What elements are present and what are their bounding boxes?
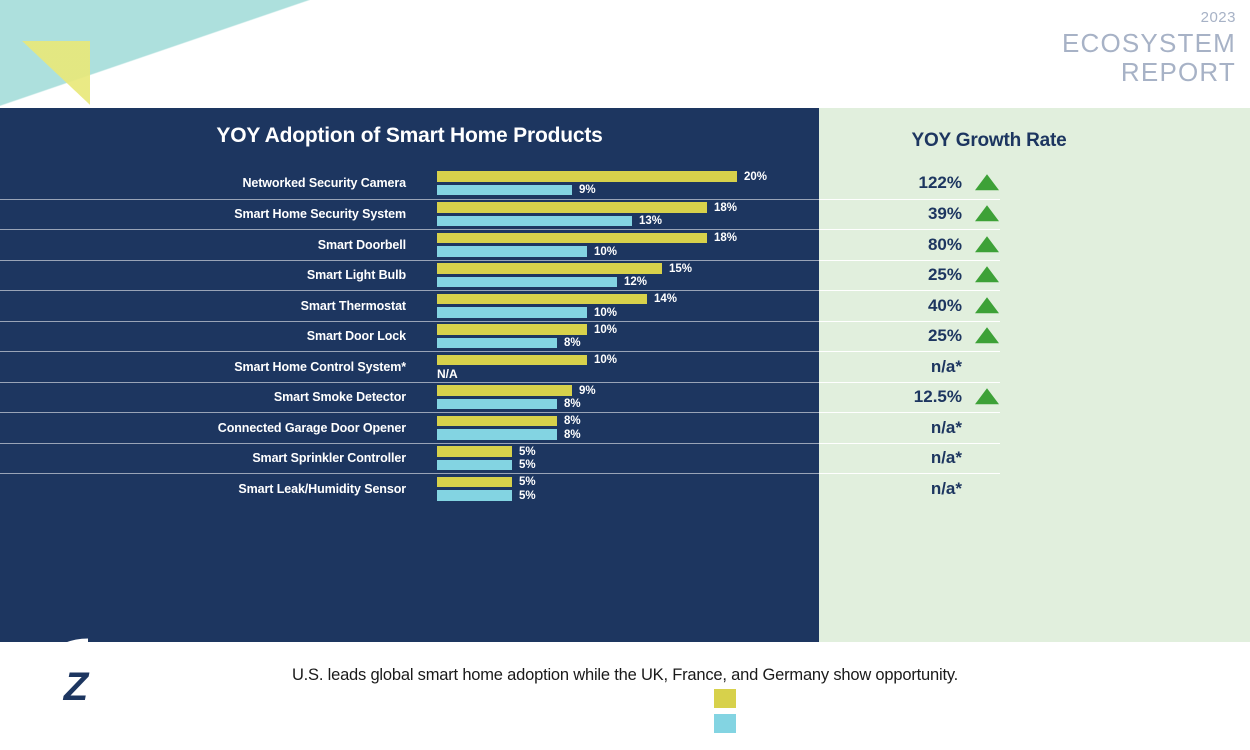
bar-segment — [437, 171, 737, 182]
bar-segment — [437, 216, 632, 227]
growth-rate-value: 40% — [819, 296, 962, 316]
bar-group: 10%8% — [437, 324, 819, 348]
bar-group: 20%9% — [437, 171, 819, 195]
bar-value-label: 14% — [654, 293, 677, 305]
report-year: 2023 — [1062, 10, 1236, 30]
bar-value-label: 5% — [519, 489, 536, 501]
row-divider-mask — [1000, 290, 1250, 291]
bar-line: 15% — [437, 263, 819, 274]
bar-segment — [437, 233, 707, 244]
bar-line: 14% — [437, 294, 819, 305]
bar-line: 5% — [437, 477, 819, 488]
growth-up-arrow-icon — [975, 174, 999, 190]
report-title-block: 2023 ECOSYSTEM REPORT — [1062, 10, 1236, 88]
bar-segment — [437, 355, 587, 366]
bar-group: 9%8% — [437, 385, 819, 409]
bar-chart-row: Smart Home Security System18%13% — [0, 199, 819, 230]
growth-rate-row: 25% — [819, 321, 1250, 352]
bar-chart-row: Connected Garage Door Opener8%8% — [0, 412, 819, 443]
bar-chart-row: Smart Home Control System*10%N/A — [0, 351, 819, 382]
row-divider-mask — [1000, 443, 1250, 444]
adoption-chart-panel: YOY Adoption of Smart Home Products Netw… — [0, 108, 819, 642]
bar-segment — [437, 246, 587, 257]
growth-up-arrow-icon — [975, 297, 999, 313]
bar-value-label: 9% — [579, 184, 596, 196]
bar-line: 20% — [437, 171, 819, 182]
bar-line: 8% — [437, 338, 819, 349]
bar-line: 10% — [437, 307, 819, 318]
bar-value-label: 8% — [564, 428, 581, 440]
bar-line: 8% — [437, 399, 819, 410]
legend-label-q2: Q2 20 — [750, 716, 787, 731]
bar-group: 18%13% — [437, 202, 819, 226]
bar-category-label: Smart Thermostat — [0, 299, 418, 313]
bar-group: 18%10% — [437, 233, 819, 257]
bar-segment — [437, 446, 512, 457]
page-caption: U.S. leads global smart home adoption wh… — [0, 666, 1250, 685]
bar-value-label: 9% — [579, 384, 596, 396]
bar-value-label: 10% — [594, 354, 617, 366]
bar-category-label: Smart Smoke Detector — [0, 390, 418, 404]
bar-line: 18% — [437, 233, 819, 244]
bar-line: 9% — [437, 185, 819, 196]
bar-segment — [437, 324, 587, 335]
bar-value-label: 15% — [669, 262, 692, 274]
growth-rate-rows: 122%39%80%25%40%25%n/a*12.5%n/a*n/a*n/a* — [819, 168, 1250, 504]
growth-rate-value: 39% — [819, 204, 962, 224]
page-header: 2023 ECOSYSTEM REPORT — [0, 0, 1250, 108]
bar-line: 5% — [437, 490, 819, 501]
row-divider-mask — [1000, 382, 1250, 383]
bar-na-label: N/A — [437, 367, 458, 381]
bar-segment — [437, 294, 647, 305]
growth-up-arrow-icon — [975, 327, 999, 343]
bar-category-label: Smart Home Control System* — [0, 360, 418, 374]
bar-line: 10% — [437, 324, 819, 335]
growth-rate-row: n/a* — [819, 473, 1250, 504]
growth-rate-value: 12.5% — [819, 387, 962, 407]
bar-value-label: 5% — [519, 459, 536, 471]
growth-rate-row: n/a* — [819, 351, 1250, 382]
bar-line: 18% — [437, 202, 819, 213]
bar-line: 5% — [437, 446, 819, 457]
growth-rate-value: 122% — [819, 173, 962, 193]
bar-group: 5%5% — [437, 477, 819, 501]
bar-value-label: 13% — [639, 215, 662, 227]
bar-value-label: 18% — [714, 201, 737, 213]
bar-value-label: 5% — [519, 476, 536, 488]
growth-rate-row: 25% — [819, 260, 1250, 291]
bar-value-label: 8% — [564, 337, 581, 349]
legend-label-q1: Q1 22 — [750, 691, 787, 706]
bar-segment — [437, 307, 587, 318]
bar-line: 8% — [437, 429, 819, 440]
bar-line: 8% — [437, 416, 819, 427]
bar-segment — [437, 202, 707, 213]
growth-up-arrow-icon — [975, 236, 999, 252]
bar-chart-row: Networked Security Camera20%9% — [0, 168, 819, 199]
growth-rate-value: n/a* — [819, 448, 962, 468]
bar-segment — [437, 185, 572, 196]
legend-item-q2: Q2 20 — [714, 711, 787, 736]
bar-chart-row: Smart Doorbell18%10% — [0, 229, 819, 260]
growth-rate-value: n/a* — [819, 357, 962, 377]
bar-category-label: Connected Garage Door Opener — [0, 421, 418, 435]
growth-rate-row: 39% — [819, 199, 1250, 230]
growth-rate-row: n/a* — [819, 443, 1250, 474]
zwave-sub-text: ALLIANCE — [83, 705, 192, 727]
row-divider-mask — [1000, 229, 1250, 230]
bar-segment — [437, 477, 512, 488]
growth-rate-title: YOY Growth Rate — [819, 130, 1159, 152]
bar-segment — [437, 399, 557, 410]
growth-rate-value: 25% — [819, 265, 962, 285]
legend-swatch-q1 — [714, 689, 736, 708]
bar-value-label: 18% — [714, 232, 737, 244]
bar-segment — [437, 277, 617, 288]
bar-line: 5% — [437, 460, 819, 471]
bar-group: 10%N/A — [437, 355, 819, 379]
bar-line: 9% — [437, 385, 819, 396]
bar-category-label: Smart Doorbell — [0, 238, 418, 252]
bar-category-label: Smart Leak/Humidity Sensor — [0, 482, 418, 496]
growth-rate-row: 40% — [819, 290, 1250, 321]
bar-segment — [437, 338, 557, 349]
bar-group: 15%12% — [437, 263, 819, 287]
bar-category-label: Smart Door Lock — [0, 329, 418, 343]
bar-segment — [437, 429, 557, 440]
bar-line: 12% — [437, 277, 819, 288]
growth-rate-row: n/a* — [819, 412, 1250, 443]
row-divider-mask — [1000, 321, 1250, 322]
bar-value-label: 8% — [564, 415, 581, 427]
bar-value-label: 12% — [624, 276, 647, 288]
bar-category-label: Smart Home Security System — [0, 207, 418, 221]
bar-line: 10% — [437, 355, 819, 366]
bar-group: 14%10% — [437, 294, 819, 318]
row-divider-mask — [1000, 473, 1250, 474]
row-divider-mask — [1000, 260, 1250, 261]
growth-rate-row: 80% — [819, 229, 1250, 260]
growth-up-arrow-icon — [975, 388, 999, 404]
bar-chart-rows: Networked Security Camera20%9%Smart Home… — [0, 168, 819, 504]
bar-value-label: 10% — [594, 323, 617, 335]
bar-value-label: 10% — [594, 245, 617, 257]
bar-chart-row: Smart Door Lock10%8% — [0, 321, 819, 352]
report-page: 2023 ECOSYSTEM REPORT YOY Adoption of Sm… — [0, 0, 1250, 750]
bar-chart-row: Smart Thermostat14%10% — [0, 290, 819, 321]
bar-category-label: Smart Sprinkler Controller — [0, 451, 418, 465]
bar-group: 8%8% — [437, 416, 819, 440]
yellow-triangle-decoration — [22, 41, 90, 105]
footnote-text: * n/a means data was not collected for t… — [278, 646, 646, 660]
bar-value-label: 8% — [564, 398, 581, 410]
bar-group: 5%5% — [437, 446, 819, 470]
row-divider-mask — [1000, 199, 1250, 200]
bar-value-label: 10% — [594, 306, 617, 318]
report-title-line1: ECOSYSTEM — [1062, 30, 1236, 59]
bar-category-label: Networked Security Camera — [0, 176, 418, 190]
bar-category-label: Smart Light Bulb — [0, 268, 418, 282]
bar-chart-row: Smart Sprinkler Controller5%5% — [0, 443, 819, 474]
row-divider-mask — [1000, 412, 1250, 413]
row-divider-mask — [1000, 351, 1250, 352]
bar-value-label: 20% — [744, 170, 767, 182]
chart-legend: Q1 22 Q2 20 — [714, 686, 787, 736]
bar-line: 13% — [437, 216, 819, 227]
chart-title: YOY Adoption of Smart Home Products — [0, 124, 819, 148]
growth-rate-value: n/a* — [819, 418, 962, 438]
bar-line: 10% — [437, 246, 819, 257]
legend-swatch-q2 — [714, 714, 736, 733]
growth-rate-row: 122% — [819, 168, 1250, 199]
bar-chart-row: Smart Leak/Humidity Sensor5%5% — [0, 473, 819, 504]
bar-line: N/A — [437, 368, 819, 379]
growth-rate-value: 25% — [819, 326, 962, 346]
bar-chart-row: Smart Light Bulb15%12% — [0, 260, 819, 291]
bar-segment — [437, 385, 572, 396]
bar-segment — [437, 490, 512, 501]
bar-value-label: 5% — [519, 445, 536, 457]
bar-segment — [437, 460, 512, 471]
growth-up-arrow-icon — [975, 205, 999, 221]
growth-rate-value: n/a* — [819, 479, 962, 499]
legend-item-q1: Q1 22 — [714, 686, 787, 711]
bar-chart-row: Smart Smoke Detector9%8% — [0, 382, 819, 413]
report-title-line2: REPORT — [1062, 59, 1236, 88]
row-divider-mask — [1000, 167, 1250, 168]
growth-up-arrow-icon — [975, 266, 999, 282]
growth-rate-value: 80% — [819, 235, 962, 255]
bar-segment — [437, 416, 557, 427]
growth-rate-row: 12.5% — [819, 382, 1250, 413]
bar-segment — [437, 263, 662, 274]
